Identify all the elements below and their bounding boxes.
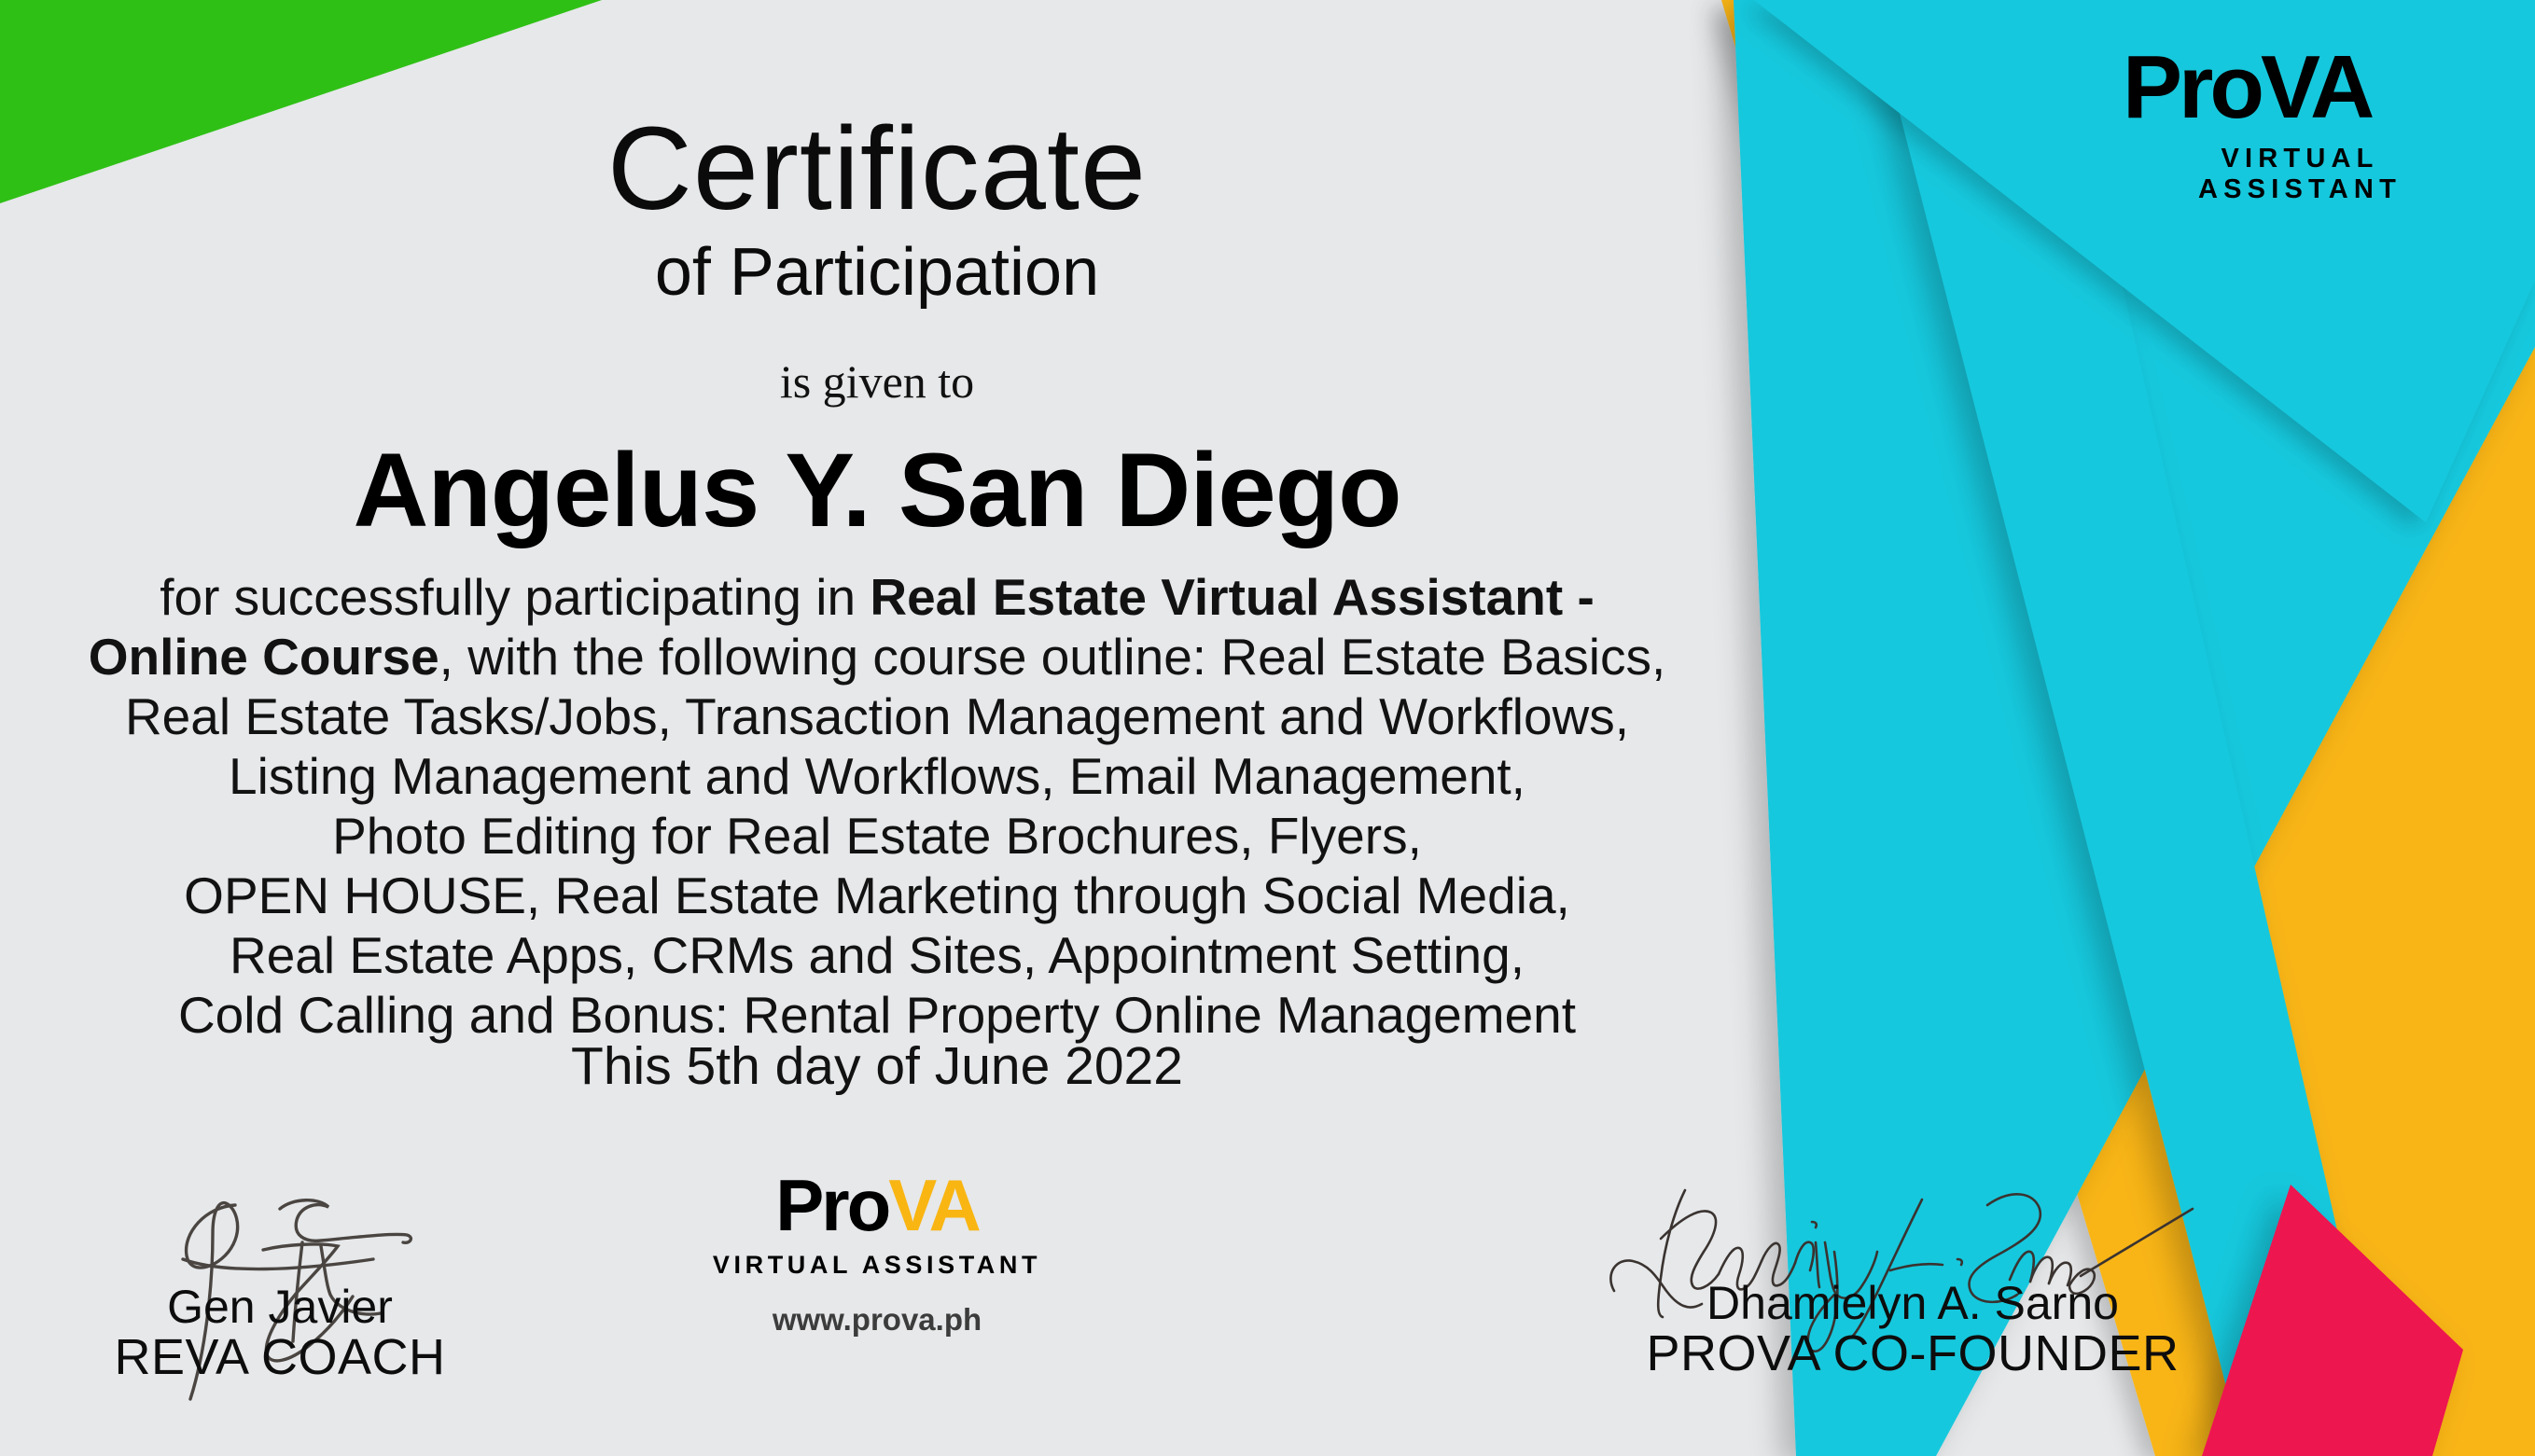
course-description-line: OPEN HOUSE, Real Estate Marketing throug…	[0, 866, 1754, 925]
website-url[interactable]: www.prova.ph	[709, 1302, 1045, 1338]
course-description-text: OPEN HOUSE, Real Estate Marketing throug…	[184, 867, 1570, 924]
course-description-line: Real Estate Tasks/Jobs, Transaction Mana…	[0, 686, 1754, 746]
signature-block-left: Gen Javier REVA COACH	[56, 1194, 504, 1295]
course-description-line: Photo Editing for Real Estate Brochures,…	[0, 806, 1754, 866]
course-description-line: Online Course, with the following course…	[0, 627, 1754, 686]
page-subtitle: of Participation	[0, 239, 1754, 306]
course-description-text: Photo Editing for Real Estate Brochures,…	[332, 807, 1422, 865]
course-description-text: Real Estate Apps, CRMs and Sites, Appoin…	[230, 926, 1525, 984]
course-description: for successfully participating in Real E…	[0, 567, 1754, 1045]
signature-block-right: Dhamielyn A. Sarno PROVA CO-FOUNDER	[1586, 1194, 2239, 1295]
center-prova-logo: ProVA VIRTUAL ASSISTANT www.prova.ph	[709, 1171, 1045, 1338]
course-description-text: , with the following course outline: Rea…	[439, 628, 1666, 686]
given-to-label: is given to	[0, 354, 1754, 409]
course-description-text: for successfully participating in	[160, 568, 870, 626]
course-description-text: Real Estate Tasks/Jobs, Transaction Mana…	[125, 687, 1629, 745]
certificate-page: ProVA VIRTUAL ASSISTANT Certificate of P…	[0, 0, 2535, 1456]
corner-logo-wordmark: ProVA	[2123, 45, 2496, 142]
corner-prova-logo: ProVA VIRTUAL ASSISTANT	[2123, 45, 2496, 205]
page-title: Certificate	[0, 110, 1754, 228]
corner-logo-va: VA	[2261, 37, 2371, 137]
signature-role-left: REVA COACH	[56, 1331, 504, 1384]
course-title-emphasis: Real Estate Virtual Assistant -	[870, 568, 1594, 626]
course-title-emphasis: Online Course	[89, 628, 439, 686]
course-description-line: Real Estate Apps, CRMs and Sites, Appoin…	[0, 925, 1754, 985]
course-description-line: Listing Management and Workflows, Email …	[0, 746, 1754, 806]
signature-role-right: PROVA CO-FOUNDER	[1586, 1327, 2239, 1380]
course-description-text: Listing Management and Workflows, Email …	[229, 747, 1525, 805]
center-logo-va: VA	[888, 1164, 979, 1246]
center-logo-tagline: VIRTUAL ASSISTANT	[709, 1251, 1045, 1280]
center-logo-wordmark: ProVA	[709, 1171, 1045, 1249]
corner-logo-tagline: VIRTUAL ASSISTANT	[2123, 144, 2477, 205]
corner-logo-pro: Pro	[2123, 37, 2261, 137]
signature-name-right: Dhamielyn A. Sarno	[1586, 1280, 2239, 1327]
recipient-name: Angelus Y. San Diego	[0, 438, 1754, 543]
course-description-line: for successfully participating in Real E…	[0, 567, 1754, 627]
center-logo-pro: Pro	[775, 1164, 888, 1246]
issue-date: This 5th day of June 2022	[0, 1035, 1754, 1097]
signature-name-left: Gen Javier	[56, 1283, 504, 1331]
